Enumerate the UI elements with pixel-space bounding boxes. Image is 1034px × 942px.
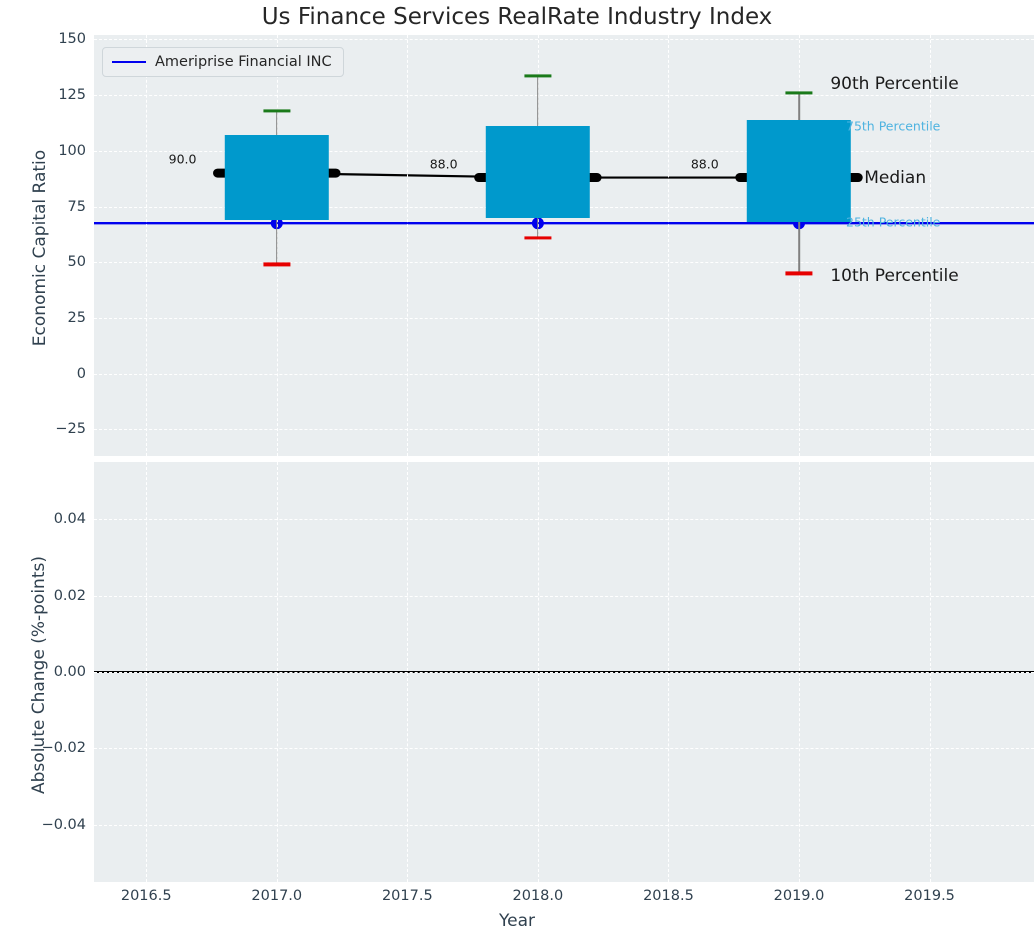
- median-value-label: 88.0: [430, 156, 458, 171]
- gridline-vertical: [277, 462, 278, 882]
- y-axis-tick-label: 0.04: [54, 511, 86, 527]
- boxplot-cap-10th-percentile: [524, 236, 551, 239]
- gridline-horizontal: [94, 825, 1034, 826]
- y-axis-tick-label: 100: [58, 143, 86, 159]
- gridline-vertical: [407, 35, 408, 456]
- y-axis-tick-label: 125: [58, 87, 86, 103]
- chart-title: Us Finance Services RealRate Industry In…: [0, 4, 1034, 30]
- gridline-vertical: [538, 462, 539, 882]
- gridline-vertical: [930, 462, 931, 882]
- legend-swatch-line-icon: [112, 61, 146, 63]
- gridline-vertical: [146, 35, 147, 456]
- gridline-horizontal: [94, 429, 1034, 430]
- boxplot-box: [225, 135, 329, 220]
- y-axis-tick-label: 150: [58, 31, 86, 47]
- x-axis-tick-label: 2017.5: [382, 888, 433, 904]
- median-value-label: 88.0: [691, 156, 719, 171]
- boxplot-box: [486, 126, 590, 217]
- gridline-horizontal: [94, 748, 1034, 749]
- gridline-vertical: [668, 35, 669, 456]
- y-axis-label-top: Economic Capital Ratio: [30, 108, 50, 388]
- gridline-horizontal: [94, 262, 1034, 263]
- boxplot-cap-90th-percentile: [524, 75, 551, 78]
- y-axis-tick-label: 25: [68, 310, 86, 326]
- chart-annotation: 25th Percentile: [846, 215, 940, 230]
- chart-annotation: 10th Percentile: [830, 266, 958, 286]
- gridline-vertical: [407, 462, 408, 882]
- x-axis-tick-label: 2019.0: [774, 888, 825, 904]
- boxplot-cap-10th-percentile: [263, 263, 290, 266]
- y-axis-tick-label: 50: [68, 254, 86, 270]
- chart-legend[interactable]: Ameriprise Financial INC: [102, 47, 344, 77]
- gridline-horizontal: [94, 519, 1034, 520]
- gridline-horizontal: [94, 95, 1034, 96]
- x-axis-tick-label: 2016.5: [121, 888, 172, 904]
- boxplot-box: [747, 120, 851, 222]
- gridline-horizontal: [94, 318, 1034, 319]
- y-axis-tick-label: −25: [55, 421, 86, 437]
- gridline-horizontal: [94, 374, 1034, 375]
- chart-figure: Us Finance Services RealRate Industry In…: [0, 0, 1034, 942]
- legend-item-label: Ameriprise Financial INC: [155, 54, 332, 70]
- company-series-line: [94, 35, 1034, 456]
- y-axis-label-bottom: Absolute Change (%-points): [29, 510, 49, 840]
- gridline-horizontal: [94, 596, 1034, 597]
- boxplot-cap-10th-percentile: [785, 272, 812, 275]
- gridline-horizontal: [94, 672, 1034, 673]
- boxplot-cap-90th-percentile: [263, 109, 290, 112]
- median-connector-line: [94, 35, 1034, 456]
- y-axis-tick-label: 0.02: [54, 588, 86, 604]
- plot-area-economic-capital-ratio: 90.088.088.090th Percentile75th Percenti…: [94, 35, 1034, 456]
- y-axis-tick-label: 75: [68, 199, 86, 215]
- x-axis-tick-label: 2019.5: [904, 888, 955, 904]
- x-axis-tick-label: 2018.0: [513, 888, 564, 904]
- gridline-vertical: [799, 462, 800, 882]
- gridline-vertical: [930, 35, 931, 456]
- x-axis-label: Year: [0, 911, 1034, 931]
- plot-area-absolute-change: [94, 462, 1034, 882]
- chart-annotation: 75th Percentile: [846, 119, 940, 134]
- gridline-vertical: [668, 462, 669, 882]
- chart-annotation: 90th Percentile: [830, 74, 958, 94]
- boxplot-cap-90th-percentile: [785, 91, 812, 94]
- x-axis-tick-label: 2018.5: [643, 888, 694, 904]
- y-axis-tick-label: 0.00: [54, 664, 86, 680]
- gridline-horizontal: [94, 39, 1034, 40]
- gridline-vertical: [146, 462, 147, 882]
- median-value-label: 90.0: [169, 152, 197, 167]
- x-axis-tick-label: 2017.0: [251, 888, 302, 904]
- chart-annotation: Median: [864, 168, 926, 188]
- y-axis-tick-label: 0: [77, 366, 86, 382]
